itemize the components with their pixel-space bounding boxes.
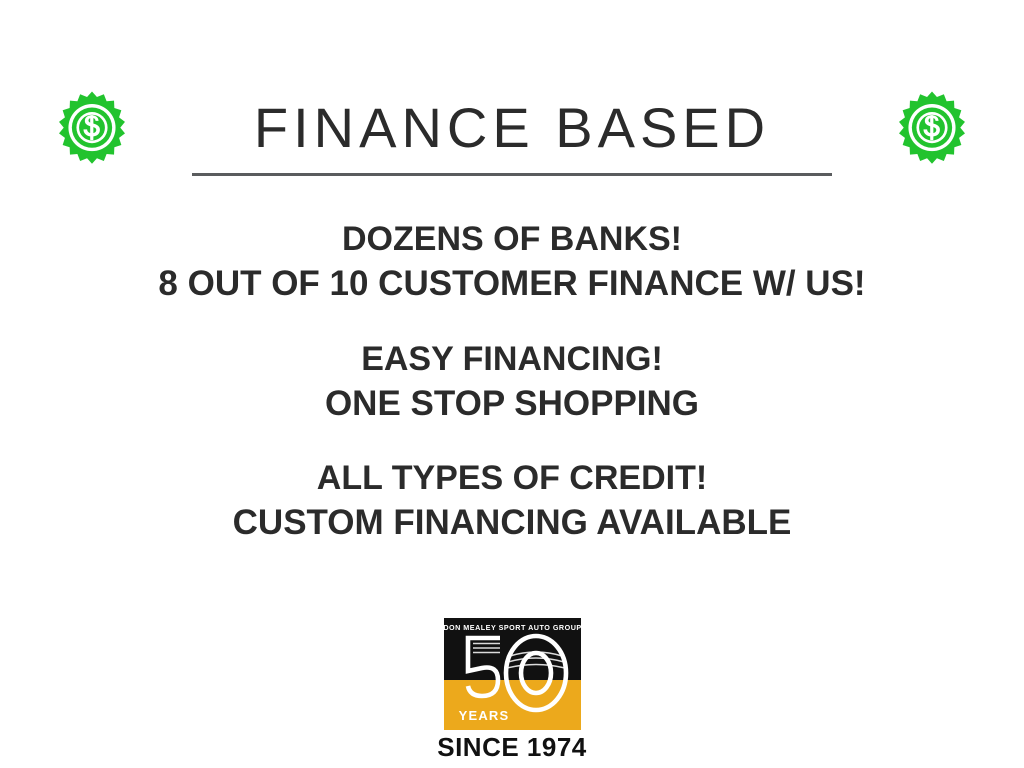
page-title-wrap: FINANCE BASED [192,100,832,156]
badge-top-text: DON MEALEY SPORT AUTO GROUP [444,623,581,632]
badge-years-label: YEARS [458,708,509,723]
copy-headline: EASY FINANCING! [0,338,1024,382]
dealer-logo: DON MEALEY SPORT AUTO GROUP YEARS [0,618,1024,760]
slide-canvas: FINANCE BASED DOZENS OF BANKS! 8 OUT OF … [0,0,1024,768]
copy-subline: ONE STOP SHOPPING [0,382,1024,427]
page-title: FINANCE BASED [192,100,832,156]
copy-headline: DOZENS OF BANKS! [0,218,1024,262]
dollar-gear-icon-right [894,90,970,166]
copy-headline: ALL TYPES OF CREDIT! [0,457,1024,501]
dollar-gear-icon-left [54,90,130,166]
copy-block-easy-financing: EASY FINANCING! ONE STOP SHOPPING [0,338,1024,426]
fifty-years-badge: DON MEALEY SPORT AUTO GROUP YEARS [444,618,581,730]
copy-subline: 8 OUT OF 10 CUSTOMER FINANCE W/ US! [0,262,1024,307]
copy-subline: CUSTOM FINANCING AVAILABLE [0,501,1024,546]
title-divider [192,173,832,176]
copy-block-credit: ALL TYPES OF CREDIT! CUSTOM FINANCING AV… [0,457,1024,545]
since-text: SINCE 1974 [437,734,587,760]
header: FINANCE BASED [0,78,1024,178]
copy-block-banks: DOZENS OF BANKS! 8 OUT OF 10 CUSTOMER FI… [0,218,1024,306]
